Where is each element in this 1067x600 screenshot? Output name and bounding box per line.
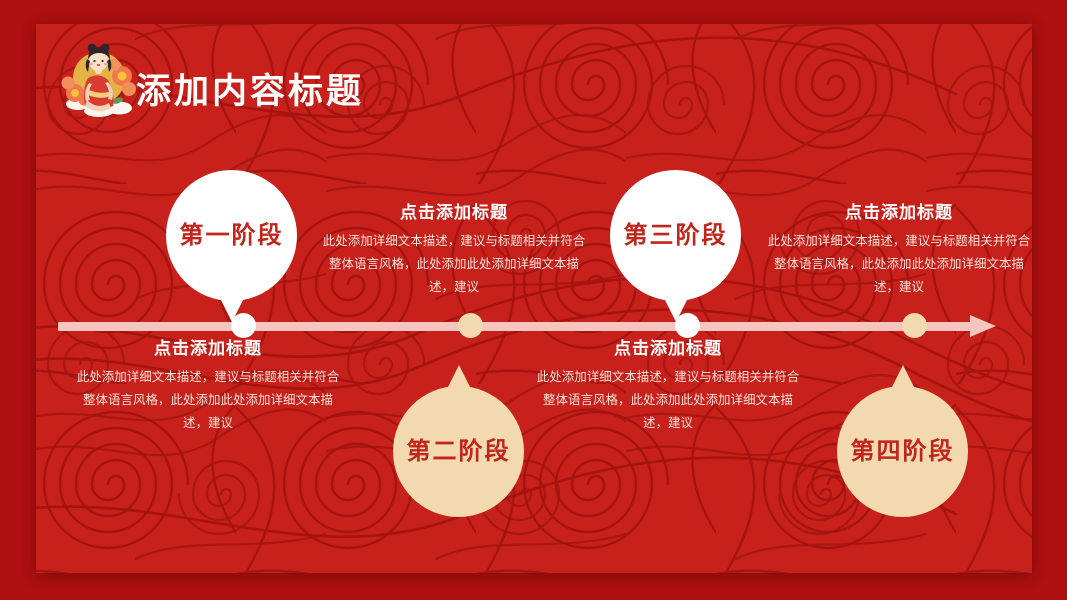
text-block-4-body: 此处添加详细文本描述，建议与标题相关并符合整体语言风格，此处添加此处添加详细文本… (764, 230, 1032, 299)
phase-balloon-2[interactable]: 第二阶段 (393, 386, 524, 517)
text-block-1[interactable]: 点击添加标题 此处添加详细文本描述，建议与标题相关并符合整体语言风格，此处添加此… (319, 204, 589, 299)
slide-canvas: 添加内容标题 第一阶段 第二阶段 第三阶段 第四阶段 (36, 24, 1032, 573)
timeline-axis (58, 315, 1012, 337)
text-block-2-title: 点击添加标题 (73, 340, 343, 357)
text-block-4[interactable]: 点击添加标题 此处添加详细文本描述，建议与标题相关并符合整体语言风格，此处添加此… (764, 204, 1032, 299)
text-block-2-body: 此处添加详细文本描述，建议与标题相关并符合整体语言风格，此处添加此处添加详细文本… (73, 366, 343, 435)
arrow-right-icon (970, 315, 996, 337)
text-block-3[interactable]: 点击添加标题 此处添加详细文本描述，建议与标题相关并符合整体语言风格，此处添加此… (533, 340, 803, 435)
page-title: 添加内容标题 (136, 74, 364, 109)
chinese-lady-illustration-icon (58, 38, 140, 122)
balloon-tail-icon (890, 365, 916, 391)
phase-balloon-3[interactable]: 第三阶段 (610, 170, 741, 301)
phase-balloon-1[interactable]: 第一阶段 (166, 170, 297, 301)
text-block-3-body: 此处添加详细文本描述，建议与标题相关并符合整体语言风格，此处添加此处添加详细文本… (533, 366, 803, 435)
phase-label-2: 第二阶段 (407, 440, 511, 464)
balloon-tail-icon (219, 296, 245, 322)
slide-stage: 添加内容标题 第一阶段 第二阶段 第三阶段 第四阶段 (0, 0, 1067, 600)
slide-header: 添加内容标题 (36, 24, 1032, 134)
timeline-bar (58, 322, 976, 331)
balloon-tail-icon (446, 365, 472, 391)
phase-label-4: 第四阶段 (851, 440, 955, 464)
phase-label-1: 第一阶段 (180, 224, 284, 248)
text-block-1-title: 点击添加标题 (319, 204, 589, 221)
timeline-node-4[interactable] (902, 313, 927, 338)
text-block-3-title: 点击添加标题 (533, 340, 803, 357)
text-block-1-body: 此处添加详细文本描述，建议与标题相关并符合整体语言风格，此处添加此处添加详细文本… (319, 230, 589, 299)
phase-label-3: 第三阶段 (624, 224, 728, 248)
balloon-tail-icon (663, 296, 689, 322)
text-block-2[interactable]: 点击添加标题 此处添加详细文本描述，建议与标题相关并符合整体语言风格，此处添加此… (73, 340, 343, 435)
text-block-4-title: 点击添加标题 (764, 204, 1032, 221)
timeline-node-2[interactable] (458, 313, 483, 338)
phase-balloon-4[interactable]: 第四阶段 (837, 386, 968, 517)
